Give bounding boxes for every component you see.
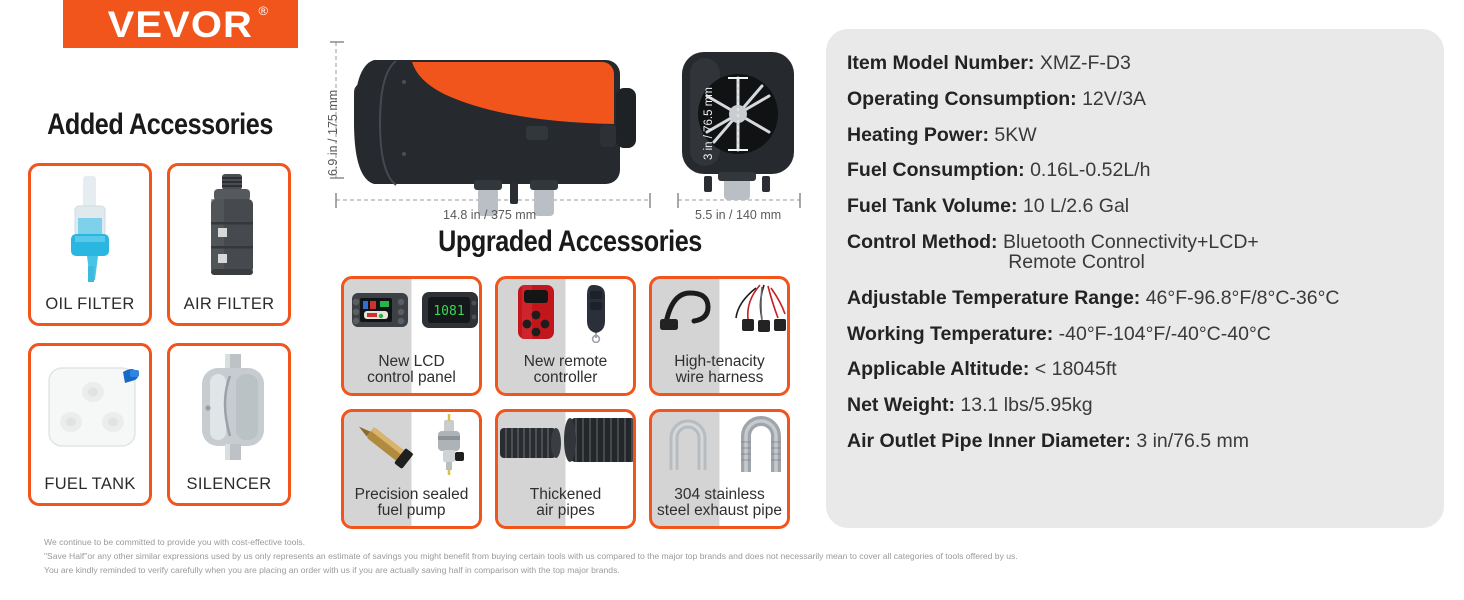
spec-row-item-model-number: Item Model Number: XMZ-F-D3 — [847, 53, 1426, 73]
product-dimension-diagram: 6.9 in / 175 mm 14.8 in / 375 mm 3 in / … — [300, 30, 820, 230]
accessory-label: SILENCER — [187, 475, 272, 503]
fuel-tank-icon — [31, 346, 149, 475]
upgraded-card-remote-controller[interactable]: New remote controller — [495, 276, 636, 396]
accessory-label: AIR FILTER — [184, 295, 275, 323]
spec-row-operating-consumption: Operating Consumption: 12V/3A — [847, 89, 1426, 109]
dimension-height-label: 6.9 in / 175 mm — [326, 90, 340, 176]
accessory-label: FUEL TANK — [44, 475, 135, 503]
oil-filter-icon — [31, 166, 149, 295]
spec-row-heating-power: Heating Power: 5KW — [847, 125, 1426, 145]
upgraded-accessories-title: Upgraded Accessories — [373, 225, 768, 259]
accessory-label: OIL FILTER — [45, 295, 134, 323]
spec-label: Air Outlet Pipe Inner Diameter: — [847, 430, 1131, 452]
infographic-canvas: VEVOR ® Added Accessories OIL FILTER — [0, 0, 1464, 600]
fuel-pump-icon — [344, 412, 479, 487]
dimension-width-label: 14.8 in / 375 mm — [443, 208, 536, 222]
spec-label: Applicable Altitude: — [847, 358, 1029, 380]
disclaimer-line-2: "Save Half"or any other similar expressi… — [44, 550, 1304, 564]
spec-value: Bluetooth Connectivity+LCD+ — [1003, 231, 1259, 253]
vevor-logo-text: VEVOR ® — [108, 6, 253, 43]
upgraded-card-wire-harness[interactable]: High-tenacity wire harness — [649, 276, 790, 396]
air-pipe-icon — [498, 412, 633, 487]
spec-row-working-temperature: Working Temperature: -40°F-104°F/-40°C-4… — [847, 324, 1426, 344]
vevor-logo: VEVOR ® — [63, 0, 298, 48]
upgraded-label: 304 stainless steel exhaust pipe — [652, 487, 787, 526]
spec-row-net-weight: Net Weight: 13.1 lbs/5.95kg — [847, 395, 1426, 415]
spec-label: Item Model Number: — [847, 52, 1034, 74]
upgraded-label: New LCD control panel — [344, 354, 479, 393]
registered-mark: ® — [259, 5, 270, 17]
upgraded-card-exhaust-pipe[interactable]: 304 stainless steel exhaust pipe — [649, 409, 790, 529]
spec-row-applicable-altitude: Applicable Altitude: < 18045ft — [847, 359, 1426, 379]
spec-row-air-outlet-pipe-inner-diameter: Air Outlet Pipe Inner Diameter: 3 in/76.… — [847, 431, 1426, 451]
upgraded-label: High-tenacity wire harness — [652, 354, 787, 393]
upgraded-card-air-pipes[interactable]: Thickened air pipes — [495, 409, 636, 529]
spec-value: XMZ-F-D3 — [1040, 52, 1131, 74]
spec-label: Adjustable Temperature Range: — [847, 287, 1140, 309]
upgraded-label: New remote controller — [498, 354, 633, 393]
remote-controller-icon — [498, 279, 633, 354]
brand-name: VEVOR — [108, 4, 253, 45]
accessory-card-fuel-tank[interactable]: FUEL TANK — [28, 343, 152, 506]
spec-label: Net Weight: — [847, 394, 955, 416]
spec-label: Fuel Consumption: — [847, 159, 1025, 181]
spec-label: Working Temperature: — [847, 323, 1053, 345]
spec-value: -40°F-104°F/-40°C-40°C — [1059, 323, 1271, 345]
specifications-panel: Item Model Number: XMZ-F-D3 Operating Co… — [826, 29, 1444, 528]
spec-value: 10 L/2.6 Gal — [1023, 195, 1129, 217]
spec-row-fuel-consumption: Fuel Consumption: 0.16L-0.52L/h — [847, 160, 1426, 180]
wire-harness-icon — [652, 279, 787, 354]
spec-value-continued: Remote Control — [847, 252, 1426, 272]
spec-label: Heating Power: — [847, 124, 989, 146]
exhaust-pipe-icon — [652, 412, 787, 487]
spec-row-control-method: Control Method: Bluetooth Connectivity+L… — [847, 232, 1426, 273]
spec-value: 46°F-96.8°F/8°C-36°C — [1146, 287, 1340, 309]
spec-value: 12V/3A — [1082, 88, 1146, 110]
spec-label: Operating Consumption: — [847, 88, 1077, 110]
added-accessories-title: Added Accessories — [26, 108, 295, 142]
upgraded-card-fuel-pump[interactable]: Precision sealed fuel pump — [341, 409, 482, 529]
accessory-card-oil-filter[interactable]: OIL FILTER — [28, 163, 152, 326]
air-filter-icon — [170, 166, 288, 295]
spec-row-adjustable-temperature-range: Adjustable Temperature Range: 46°F-96.8°… — [847, 288, 1426, 308]
spec-value: 0.16L-0.52L/h — [1030, 159, 1150, 181]
silencer-icon — [170, 346, 288, 475]
spec-value: 3 in/76.5 mm — [1136, 430, 1249, 452]
accessory-card-silencer[interactable]: SILENCER — [167, 343, 291, 506]
lcd-control-panel-icon: 1081 — [344, 279, 479, 354]
spec-label: Fuel Tank Volume: — [847, 195, 1017, 217]
spec-value: 5KW — [994, 124, 1036, 146]
spec-row-fuel-tank-volume: Fuel Tank Volume: 10 L/2.6 Gal — [847, 196, 1426, 216]
upgraded-card-lcd-control-panel[interactable]: 1081 New LCD control panel — [341, 276, 482, 396]
footer-disclaimer: We continue to be committed to provide y… — [44, 536, 1304, 578]
svg-text:1081: 1081 — [433, 304, 464, 319]
upgraded-label: Precision sealed fuel pump — [344, 487, 479, 526]
spec-label: Control Method: — [847, 231, 998, 253]
upgraded-label: Thickened air pipes — [498, 487, 633, 526]
spec-value: 13.1 lbs/5.95kg — [960, 394, 1092, 416]
accessory-card-air-filter[interactable]: AIR FILTER — [167, 163, 291, 326]
disclaimer-line-1: We continue to be committed to provide y… — [44, 536, 1304, 550]
dimension-depth-label: 5.5 in / 140 mm — [695, 208, 781, 222]
disclaimer-line-3: You are kindly reminded to verify carefu… — [44, 564, 1304, 578]
dimension-outlet-label: 3 in / 76.5 mm — [703, 87, 715, 160]
spec-value: < 18045ft — [1035, 358, 1117, 380]
